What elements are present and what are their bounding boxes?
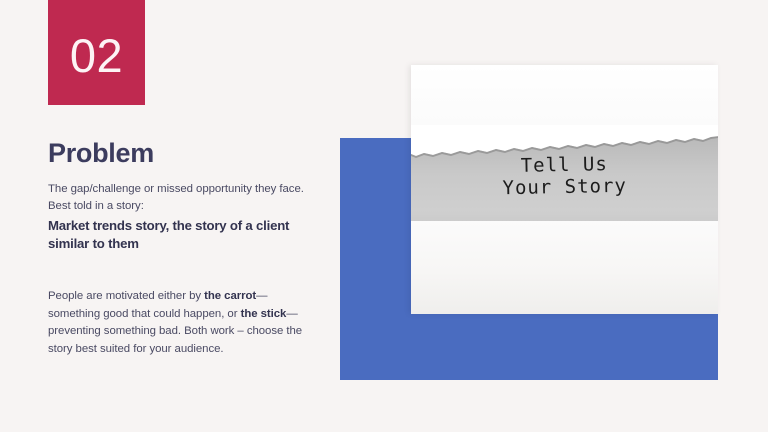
intro-text: The gap/challenge or missed opportunity … [48,183,304,212]
paragraph-bold-fragment: the stick [241,308,287,320]
paper-lower-sheet [411,221,718,314]
body-paragraph-motivation: People are motivated either by the carro… [48,288,316,358]
paragraph-fragment: People are motivated either by [48,290,204,302]
torn-paper-image: Tell Us Your Story [340,62,720,382]
paragraph-bold-fragment: the carrot [204,290,256,302]
section-number-label: 02 [70,32,123,79]
page-title: Problem [48,140,154,167]
paper-headline: Tell Us Your Story [411,151,718,202]
paper-photo-frame: Tell Us Your Story [411,65,718,314]
emphasis-text: Market trends story, the story of a clie… [48,217,324,254]
slide-canvas: 02 Problem The gap/challenge or missed o… [0,0,768,432]
body-paragraph-intro: The gap/challenge or missed opportunity … [48,181,324,254]
section-number-badge: 02 [48,0,145,105]
